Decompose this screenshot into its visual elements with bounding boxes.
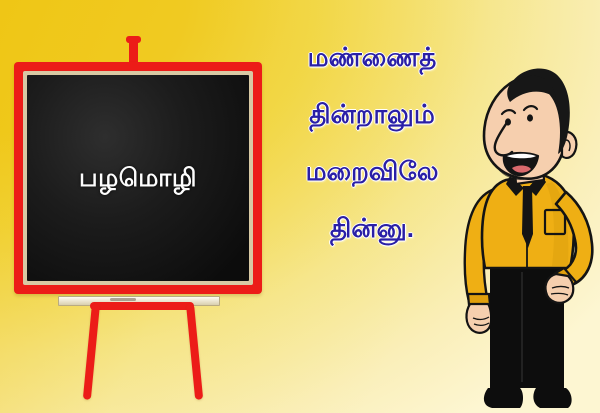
blackboard-frame: பழமொழி: [14, 62, 262, 294]
proverb-line-2: தின்றாலும்: [272, 101, 472, 127]
easel-crossbar: [90, 302, 194, 310]
easel-blackboard: பழமொழி: [14, 36, 266, 366]
man-shoe-left: [484, 388, 523, 408]
blackboard-surface: பழமொழி: [27, 75, 249, 281]
man-shoe-right: [533, 388, 571, 408]
proverb-line-3: மறைவிலே: [272, 158, 472, 184]
proverb-line-1: மண்ணைத்: [272, 44, 472, 70]
blackboard-heading-text: பழமொழி: [79, 163, 197, 193]
man-right-hand: [545, 274, 573, 303]
blackboard-inner-border: பழமொழி: [23, 71, 253, 285]
cartoon-man-illustration: [452, 62, 600, 413]
proverb-text-block: மண்ணைத் தின்றாலும் மறைவிலே தின்னு.: [272, 44, 472, 241]
man-eye-right: [527, 114, 533, 121]
proverb-line-4: தின்னு.: [272, 215, 472, 241]
chalk-piece: [110, 298, 136, 301]
proverb-image-canvas: பழமொழி மண்ணைத் தின்றாலும் மறைவிலே தின்னு…: [0, 0, 600, 413]
